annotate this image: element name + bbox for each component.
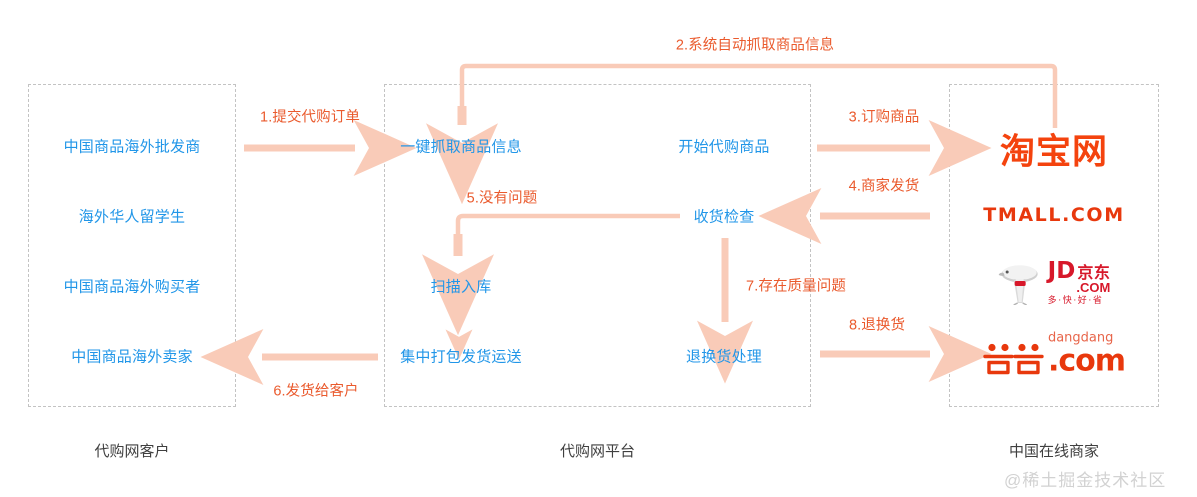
node-scan-inbound[interactable]: 扫描入库 [431, 276, 492, 297]
taobao-logo-text: 淘宝网 [1000, 124, 1108, 175]
label-flow-1: 1.提交代购订单 [260, 106, 360, 127]
node-overseas-wholesaler[interactable]: 中国商品海外批发商 [64, 136, 201, 157]
caption-lane-merchants: 中国在线商家 [949, 440, 1159, 461]
jd-logo-main: JD [1048, 258, 1076, 284]
node-overseas-student[interactable]: 海外华人留学生 [79, 206, 185, 227]
node-start-purchasing[interactable]: 开始代购商品 [678, 136, 769, 157]
node-pack-and-ship[interactable]: 集中打包发货运送 [400, 346, 522, 367]
dangdang-logo[interactable]: dangdang .com [983, 332, 1125, 377]
label-flow-3: 3.订购商品 [849, 106, 920, 127]
tmall-logo[interactable]: TMALL.COM [983, 204, 1124, 226]
flowchart-canvas: 中国商品海外批发商 海外华人留学生 中国商品海外购买者 中国商品海外卖家 一键抓… [0, 0, 1197, 497]
label-flow-6: 6.发货给客户 [273, 380, 358, 401]
label-flow-8: 8.退换货 [849, 314, 905, 335]
label-flow-4: 4.商家发货 [849, 175, 920, 196]
node-return-processing[interactable]: 退换货处理 [686, 346, 762, 367]
label-flow-7: 7.存在质量问题 [746, 275, 846, 296]
label-flow-5: 5.没有问题 [467, 187, 538, 208]
caption-lane-platform: 代购网平台 [384, 440, 811, 461]
label-flow-2: 2.系统自动抓取商品信息 [676, 34, 834, 55]
watermark: @稀土掘金技术社区 [1004, 466, 1166, 491]
node-overseas-seller[interactable]: 中国商品海外卖家 [71, 346, 193, 367]
jd-logo[interactable]: JD京东 .COM 多·快·好·省 [998, 260, 1111, 306]
node-one-click-grab[interactable]: 一键抓取商品信息 [400, 136, 522, 157]
tmall-logo-text: TMALL.COM [983, 204, 1124, 226]
jd-dog-mascot-icon [998, 261, 1044, 305]
node-overseas-buyer[interactable]: 中国商品海外购买者 [64, 276, 201, 297]
taobao-logo[interactable]: 淘宝网 [1000, 124, 1108, 175]
node-receive-check[interactable]: 收货检查 [694, 206, 755, 227]
dangdang-mark-icon [983, 343, 1045, 377]
jd-logo-slogan: 多·快·好·省 [1048, 297, 1111, 306]
dangdang-dotcom: .com [1048, 347, 1125, 377]
caption-lane-customers: 代购网客户 [28, 440, 236, 461]
